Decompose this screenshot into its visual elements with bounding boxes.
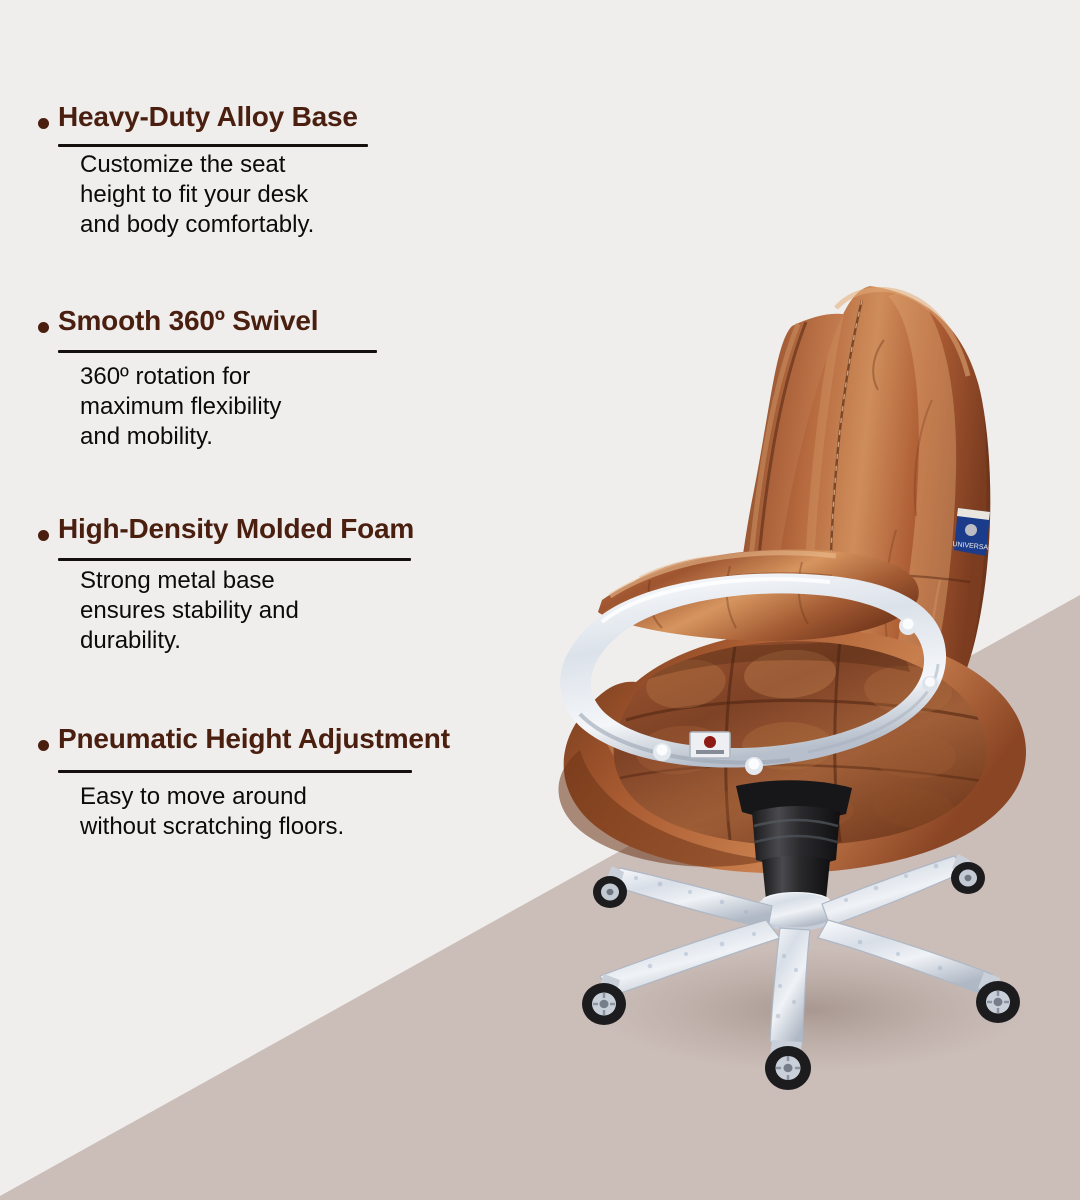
feature-heading-wrap: Heavy-Duty Alloy Base	[58, 100, 358, 134]
bullet-marker-icon	[38, 740, 49, 751]
caster-wheel	[951, 854, 985, 894]
feature-body: 360º rotation for maximum flexibility an…	[80, 362, 281, 452]
feature-body: Strong metal base ensures stability and …	[80, 566, 299, 656]
feature-heading: Pneumatic Height Adjustment	[58, 722, 450, 756]
feature-heading-underline	[58, 770, 412, 773]
feature-heading: Heavy-Duty Alloy Base	[58, 100, 358, 134]
feature-heading: High-Density Molded Foam	[58, 512, 414, 546]
feature-body: Customize the seat height to fit your de…	[80, 150, 314, 240]
brand-tag-universal: UNIVERSAL	[952, 508, 992, 556]
feature-heading: Smooth 360º Swivel	[58, 304, 318, 338]
feature-heading-wrap: High-Density Molded Foam	[58, 512, 414, 546]
feature-heading-underline	[58, 558, 411, 561]
feature-list: Heavy-Duty Alloy Base Customize the seat…	[0, 0, 700, 1200]
caster-wheel	[976, 972, 1020, 1023]
bullet-marker-icon	[38, 530, 49, 541]
feature-heading-underline	[58, 144, 368, 147]
bullet-marker-icon	[38, 118, 49, 129]
bullet-marker-icon	[38, 322, 49, 333]
feature-body: Easy to move around without scratching f…	[80, 782, 344, 842]
feature-heading-underline	[58, 350, 377, 353]
feature-heading-wrap: Smooth 360º Swivel	[58, 304, 318, 338]
feature-heading-wrap: Pneumatic Height Adjustment	[58, 722, 450, 756]
infographic-canvas: UNIVERSAL	[0, 0, 1080, 1200]
